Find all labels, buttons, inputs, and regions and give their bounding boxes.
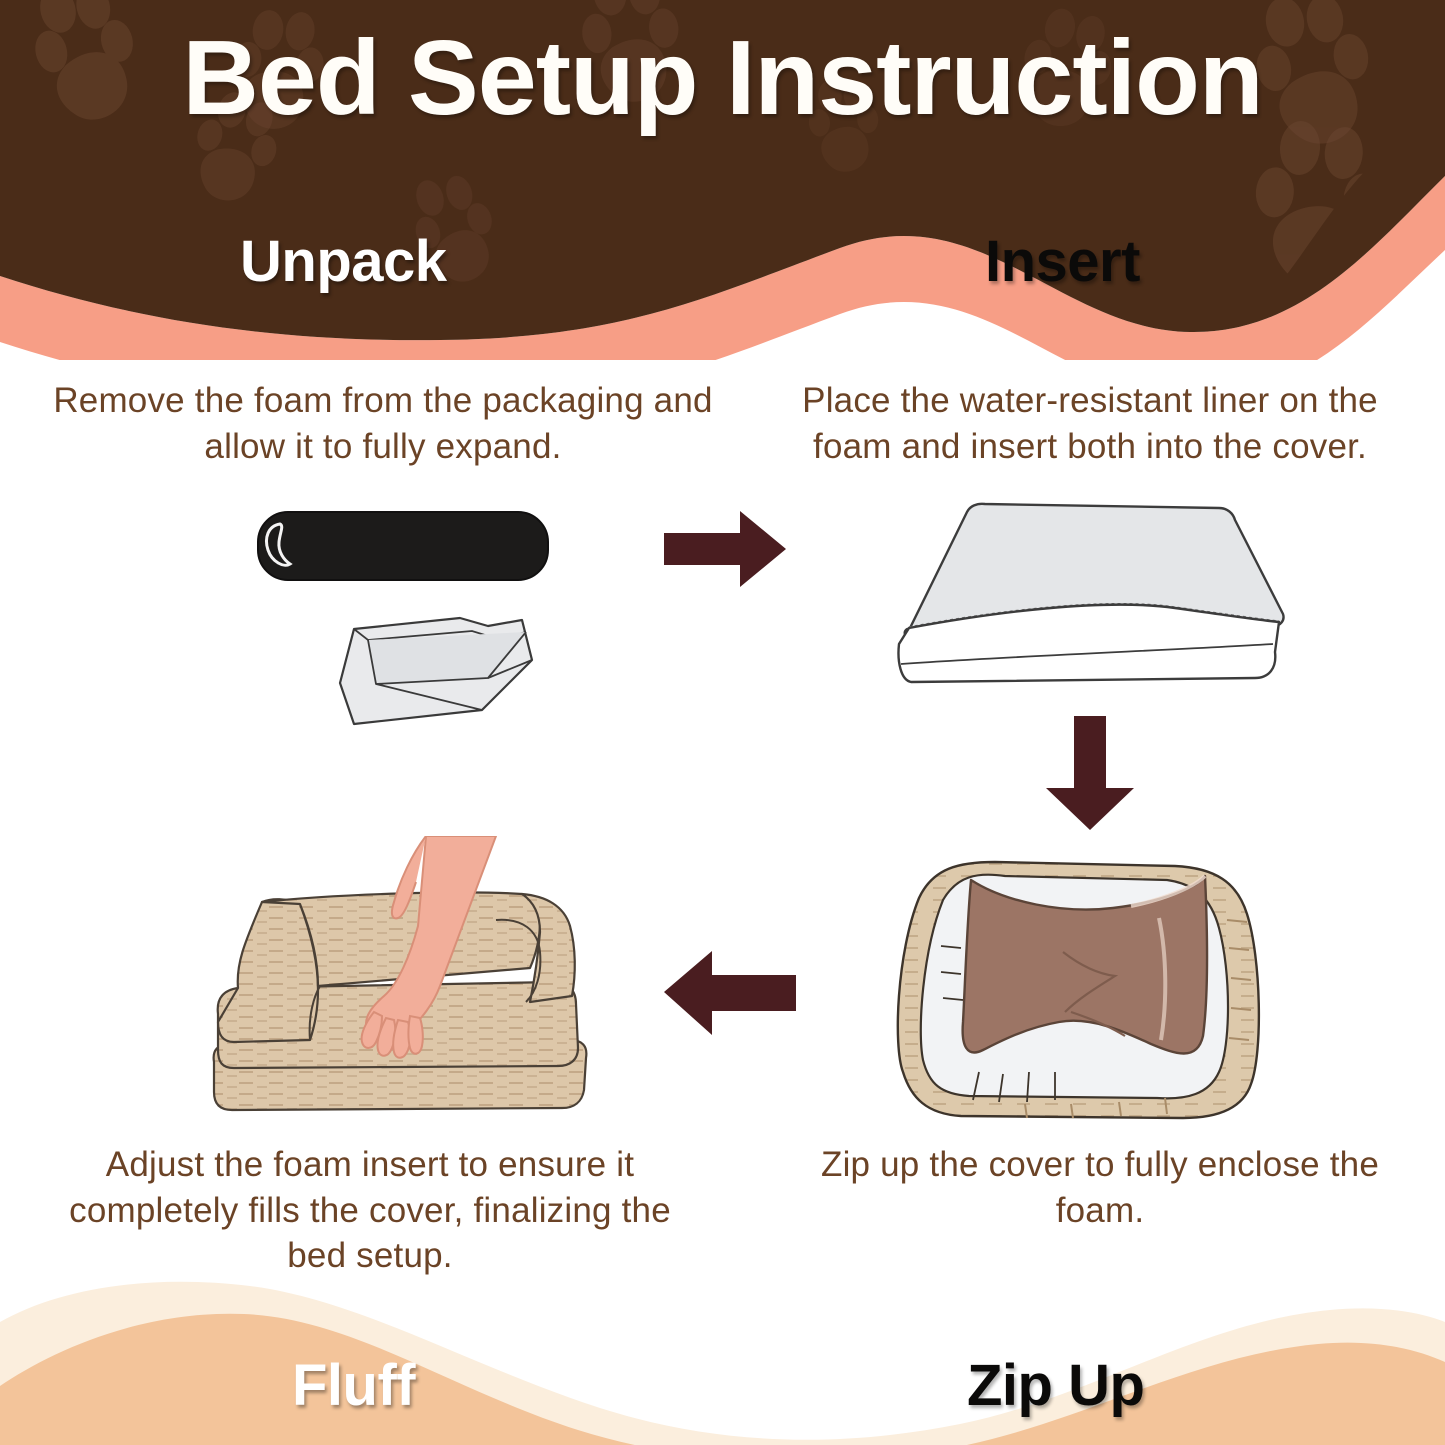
illustration-fluff (178, 836, 608, 1136)
folded-liner-shape (340, 618, 532, 724)
bed-setup-instruction-poster: Bed Setup Instruction Unpack Insert Remo… (0, 0, 1445, 1445)
rolled-foam-and-liner-icon (250, 498, 610, 728)
caption-unpack: Remove the foam from the packaging and a… (48, 378, 718, 469)
open-bed-cover-with-foam-icon (875, 846, 1285, 1136)
arrow-down-icon (1030, 712, 1150, 834)
step-label-fluff: Fluff (292, 1352, 415, 1419)
caption-zipup: Zip up the cover to fully enclose the fo… (790, 1142, 1410, 1233)
page-title: Bed Setup Instruction (0, 18, 1445, 140)
hand-pressing-bolster-bed-icon (178, 836, 608, 1136)
zippered-cushion-icon (875, 486, 1305, 696)
illustration-insert (875, 486, 1305, 696)
caption-insert: Place the water-resistant liner on the f… (760, 378, 1420, 469)
arrow-left-icon (660, 945, 800, 1040)
step-label-unpack: Unpack (240, 228, 447, 295)
rolled-foam-shape (258, 512, 548, 580)
illustration-unpack (250, 498, 610, 728)
header-banner: Bed Setup Instruction (0, 0, 1445, 360)
illustration-zipup (875, 846, 1285, 1136)
footer-wave-graphic (0, 1270, 1445, 1445)
footer-banner (0, 1270, 1445, 1445)
step-label-insert: Insert (985, 228, 1140, 295)
arrow-right-icon (660, 505, 790, 593)
step-label-zipup: Zip Up (967, 1352, 1144, 1419)
caption-fluff: Adjust the foam insert to ensure it comp… (45, 1142, 695, 1279)
